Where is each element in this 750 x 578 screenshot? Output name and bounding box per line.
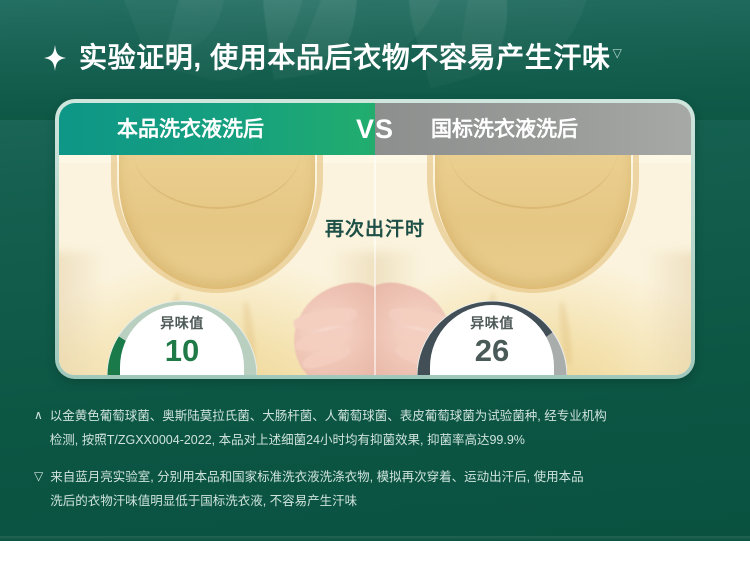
left-odor-gauge: 异味值 10 (107, 292, 257, 375)
footnote-item: ∧ 以金黄色葡萄球菌、奥斯陆莫拉氏菌、大肠杆菌、人葡萄球菌、表皮葡萄球菌为试验菌… (34, 404, 724, 453)
sparkle-icon (44, 45, 66, 71)
right-gauge-value: 26 (475, 335, 509, 366)
left-product-label: 本品洗衣液洗后 (117, 119, 264, 140)
right-product-label: 国标洗衣液洗后 (431, 119, 578, 140)
panel-bottom-edge (0, 536, 750, 541)
right-gauge-label: 异味值 (470, 316, 514, 330)
footnote-line: 以金黄色葡萄球菌、奥斯陆莫拉氏菌、大肠杆菌、人葡萄球菌、表皮葡萄球菌为试验菌种,… (50, 404, 724, 428)
page-title: 实验证明, 使用本品后衣物不容易产生汗味▽ (79, 44, 622, 72)
headline: 实验证明, 使用本品后衣物不容易产生汗味▽ (44, 36, 744, 80)
comparison-card: 本品洗衣液洗后 国标洗衣液洗后 VS (55, 99, 695, 379)
footnote-item: ▽ 来自蓝月亮实验室, 分别用本品和国家标准洗衣液洗涤衣物, 模拟再次穿着、运动… (34, 465, 724, 514)
headline-label: 实验证明, 使用本品后衣物不容易产生汗味 (79, 42, 611, 73)
footnote-line: 来自蓝月亮实验室, 分别用本品和国家标准洗衣液洗涤衣物, 模拟再次穿着、运动出汗… (50, 465, 724, 489)
comparison-header: 本品洗衣液洗后 国标洗衣液洗后 VS (59, 103, 691, 155)
left-gauge-label: 异味值 (160, 316, 204, 330)
footnote-text: 来自蓝月亮实验室, 分别用本品和国家标准洗衣液洗涤衣物, 模拟再次穿着、运动出汗… (50, 465, 724, 514)
left-gauge-value: 10 (165, 335, 199, 366)
headline-superscript: ▽ (613, 46, 623, 60)
comparison-header-right: 国标洗衣液洗后 (375, 103, 691, 155)
promo-page: 实验证明, 使用本品后衣物不容易产生汗味▽ 本品洗衣液洗后 国标洗衣液洗后 VS (0, 0, 750, 578)
shoulder-shadow-right (646, 252, 691, 375)
comparison-card-inner: 本品洗衣液洗后 国标洗衣液洗后 VS (59, 103, 691, 375)
panel-divider (374, 155, 376, 375)
footnote-line: 检测, 按照T/ZGXX0004-2022, 本品对上述细菌24小时均有抑菌效果… (50, 428, 724, 452)
comparison-header-left: 本品洗衣液洗后 (59, 103, 375, 155)
shoulder-shadow-left (59, 252, 104, 375)
footnote-text: 以金黄色葡萄球菌、奥斯陆莫拉氏菌、大肠杆菌、人葡萄球菌、表皮葡萄球菌为试验菌种,… (50, 404, 724, 453)
footnotes: ∧ 以金黄色葡萄球菌、奥斯陆莫拉氏菌、大肠杆菌、人葡萄球菌、表皮葡萄球菌为试验菌… (34, 404, 724, 526)
footnote-marker: ▽ (34, 465, 43, 488)
footnote-line: 洗后的衣物汗味值明显低于国标洗衣液, 不容易产生汗味 (50, 489, 724, 513)
right-odor-gauge: 异味值 26 (417, 292, 567, 375)
footnote-marker: ∧ (34, 404, 43, 427)
